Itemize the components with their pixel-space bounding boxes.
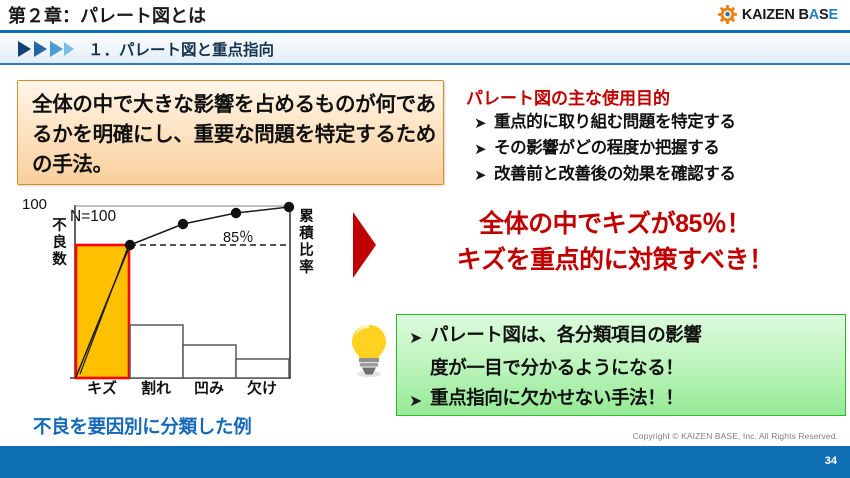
list-item: ➤ その影響がどの程度か把握する — [474, 136, 850, 162]
logo-text-part3: S — [819, 7, 828, 23]
list-item-label: 重点的に取り組む問題を特定する — [494, 110, 736, 135]
conclusion-line-2: キズを重点的に対策すべき！ — [385, 242, 845, 278]
purpose-heading: パレート図の主な使用目的 — [466, 84, 670, 109]
list-item: ➤ 重点指向に欠かせない手法！！ — [409, 383, 837, 416]
logo-text-part4: E — [829, 7, 838, 23]
pareto-chart: 100 不良数 累積比率 N=100 85％ キ — [8, 196, 338, 446]
page-number: 34 — [825, 455, 837, 467]
arrowhead-right-icon: ➤ — [474, 163, 485, 188]
cumulative-point-2 — [178, 219, 188, 229]
list-item-continuation: 度が一目で分かるようになる！ — [409, 353, 837, 383]
bar-kubomi — [183, 345, 236, 378]
definition-callout-box: 全体の中で大きな影響を占めるものが何であるかを明確にし、重要な問題を特定するため… — [17, 80, 444, 185]
brand-logo-text: KAIZEN BASE — [742, 7, 838, 23]
bar-kake — [236, 359, 289, 378]
logo-text-part1: KAIZEN B — [742, 7, 809, 23]
insight-list: ➤ パレート図は、各分類項目の影響 度が一目で分かるようになる！ ➤ 重点指向に… — [409, 320, 837, 416]
chart-plot-area — [8, 196, 338, 446]
footer-bar — [0, 446, 850, 478]
purpose-list: ➤ 重点的に取り組む問題を特定する ➤ その影響がどの程度か把握する ➤ 改善前… — [474, 110, 850, 188]
list-item-label: その影響がどの程度か把握する — [494, 136, 719, 161]
triangle-right-icon — [352, 211, 378, 279]
gear-icon — [718, 5, 737, 24]
logo-text-part2: A — [809, 7, 819, 23]
insight-callout-box: ➤ パレート図は、各分類項目の影響 度が一目で分かるようになる！ ➤ 重点指向に… — [396, 314, 846, 416]
page-title: 第２章：パレート図とは — [8, 2, 206, 28]
section-header-band: １．パレート図と重点指向 — [0, 33, 850, 65]
triple-chevron-right-icon — [18, 41, 76, 57]
list-item-label: 改善前と改善後の効果を確認する — [494, 162, 736, 187]
copyright-text: Copyright © KAIZEN BASE, Inc. All Rights… — [633, 431, 838, 441]
lightbulb-icon — [348, 322, 390, 380]
definition-text: 全体の中で大きな影響を占めるものが何であるかを明確にし、重要な問題を特定するため… — [32, 90, 436, 180]
cumulative-point-1 — [125, 240, 135, 250]
list-item: ➤ 重点的に取り組む問題を特定する — [474, 110, 850, 136]
brand-logo: KAIZEN BASE — [718, 5, 838, 24]
arrowhead-right-icon: ➤ — [474, 137, 485, 162]
x-axis-tick-label: キズ — [74, 377, 130, 398]
conclusion-line-1: 全体の中でキズが85％！ — [385, 206, 845, 242]
bar-ware — [130, 325, 183, 378]
arrowhead-right-icon: ➤ — [409, 386, 421, 416]
list-item-label: 度が一目で分かるようになる！ — [430, 353, 683, 383]
slide: 第２章：パレート図とは — [0, 0, 850, 478]
section-title: １．パレート図と重点指向 — [88, 38, 274, 60]
chart-caption: 不良を要因別に分類した例 — [33, 413, 251, 439]
x-axis-tick-label: 欠け — [234, 377, 290, 398]
x-axis-tick-label: 凹み — [181, 377, 237, 398]
cumulative-point-3 — [231, 208, 241, 218]
list-item-label: パレート図は、各分類項目の影響 — [430, 320, 702, 350]
list-item: ➤ 改善前と改善後の効果を確認する — [474, 162, 850, 188]
slide-header: 第２章：パレート図とは — [0, 0, 850, 31]
list-item: ➤ パレート図は、各分類項目の影響 — [409, 320, 837, 353]
cumulative-point-4 — [284, 202, 294, 212]
conclusion-text: 全体の中でキズが85％！ キズを重点的に対策すべき！ — [385, 206, 845, 278]
x-axis-tick-label: 割れ — [128, 377, 184, 398]
list-item-label: 重点指向に欠かせない手法！！ — [430, 383, 683, 413]
arrowhead-right-icon: ➤ — [409, 323, 421, 353]
arrowhead-right-icon: ➤ — [474, 111, 485, 136]
